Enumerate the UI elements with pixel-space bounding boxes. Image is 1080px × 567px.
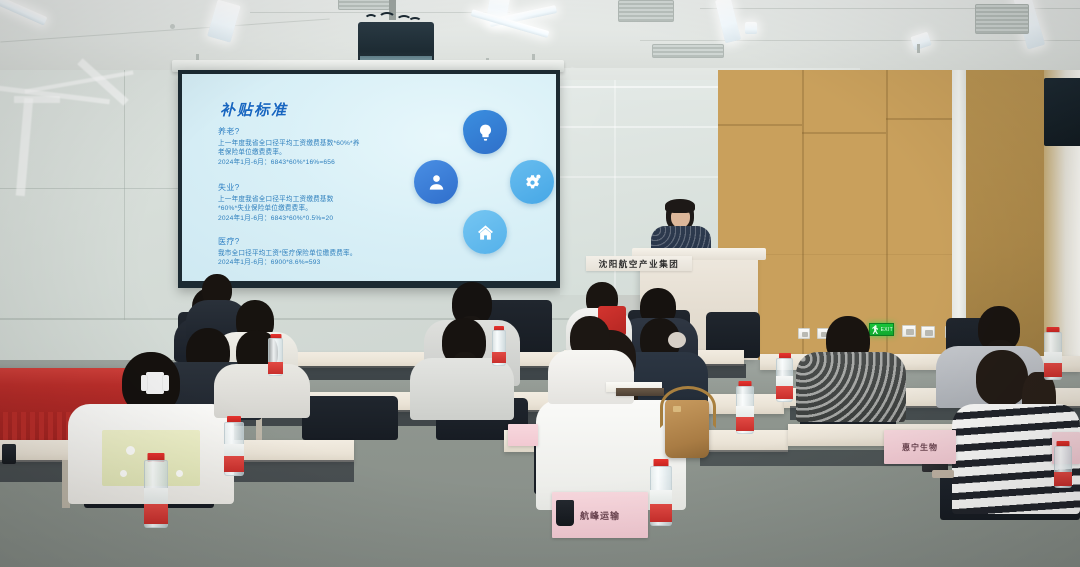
wall-outlet[interactable]	[798, 328, 810, 339]
slide-text-line: 2024年1月-6月：6900*8.6%=593	[218, 258, 357, 267]
slide-icon-cluster	[414, 110, 554, 260]
slide-text-line: 上一年度我省全口径平均工资缴费基数	[218, 195, 334, 204]
water-bottle[interactable]	[492, 330, 506, 366]
ceiling-light-strip	[0, 0, 47, 26]
podium-sign-text: 沈阳航空产业集团	[599, 258, 680, 270]
air-vent	[975, 4, 1029, 34]
cup[interactable]	[556, 500, 574, 526]
wall-display	[1044, 78, 1080, 146]
gears-icon	[510, 160, 554, 204]
projection-screen: 补贴标准 养老? 上一年度我省全口径平均工资缴费基数*60%*养 老保险单位缴费…	[178, 70, 560, 288]
wall-outlet[interactable]	[921, 326, 935, 338]
handbag	[665, 400, 709, 458]
smartphone[interactable]	[932, 470, 954, 478]
hair-clip	[146, 372, 164, 394]
patterned-blouse	[796, 352, 906, 422]
ceiling-light-strip	[910, 32, 931, 51]
table-name-card	[508, 424, 538, 446]
water-bottle[interactable]	[144, 460, 168, 528]
ceiling-light-strip	[715, 0, 741, 43]
water-bottle[interactable]	[1054, 446, 1072, 488]
running-man-icon	[872, 325, 880, 334]
person-icon	[414, 160, 458, 204]
sprinkler-head	[917, 44, 920, 53]
water-bottle[interactable]	[736, 386, 754, 434]
name-card-text: 航峰运输	[580, 509, 620, 522]
document[interactable]	[616, 388, 664, 396]
presentation-slide: 补贴标准 养老? 上一年度我省全口径平均工资缴费基数*60%*养 老保险单位缴费…	[182, 74, 556, 281]
slide-title: 补贴标准	[220, 99, 288, 120]
ceiling-light-strip	[207, 0, 241, 43]
water-bottle[interactable]	[224, 422, 244, 476]
slide-text-line: 老保险单位缴费费率。	[218, 148, 360, 157]
name-card-text: 惠宁生物	[902, 442, 938, 453]
slide-text-line: *60%*失业保险单位缴费费率。	[218, 204, 334, 213]
slide-question-medical: 医疗?	[218, 236, 357, 247]
slide-text-line: 我市全口径平均工资*医疗保险单位缴费费率。	[218, 249, 357, 258]
cup[interactable]	[2, 444, 16, 464]
water-bottle[interactable]	[268, 338, 283, 376]
chair	[302, 396, 398, 440]
air-vent	[618, 0, 674, 22]
slide-text-line: 2024年1月-6月：6843*60%*0.5%=20	[218, 214, 334, 223]
water-bottle[interactable]	[1044, 332, 1062, 380]
wall-light-gap	[952, 70, 966, 360]
slide-question-pension: 养老?	[218, 126, 360, 137]
emergency-exit-sign: EXIT	[869, 323, 894, 336]
handbag-buckle	[673, 406, 681, 412]
water-bottle[interactable]	[776, 358, 793, 402]
home-icon	[463, 210, 507, 254]
slide-text-line: 上一年度我省全口径平均工资缴费基数*60%*养	[218, 139, 360, 148]
exit-sign-label: EXIT	[881, 327, 893, 333]
water-bottle[interactable]	[650, 466, 672, 526]
conference-room-photo: EXIT 补贴标准 养老? 上一年度我省全口径平均工资缴费基数*60%*养 老保…	[0, 0, 1080, 567]
lightbulb-icon	[463, 110, 507, 154]
ceiling-speaker	[170, 24, 175, 29]
podium-sign: 沈阳航空产业集团	[586, 256, 692, 271]
speaker-fringe	[665, 199, 695, 213]
ceiling-light-strip	[745, 22, 757, 34]
slide-text-line: 2024年1月-6月：6843*60%*16%=656	[218, 158, 360, 167]
slide-question-unemployment: 失业?	[218, 182, 334, 193]
air-vent	[652, 44, 724, 58]
air-vent	[338, 0, 390, 10]
table-name-card: 惠宁生物	[884, 430, 956, 464]
